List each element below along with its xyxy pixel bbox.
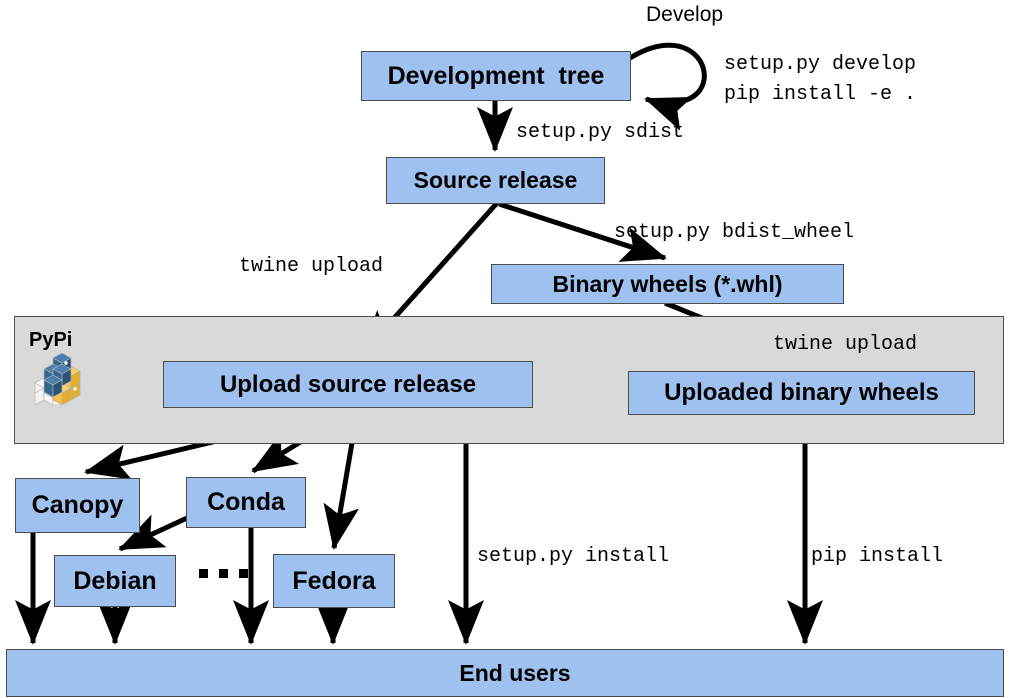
ellipsis-dot bbox=[199, 569, 208, 578]
node-upload-source-release[interactable]: Upload source release bbox=[163, 361, 533, 408]
label-develop-command-1: setup.py develop bbox=[724, 51, 916, 79]
node-fedora[interactable]: Fedora bbox=[273, 554, 395, 608]
label-develop: Develop bbox=[646, 3, 723, 27]
label-twine-upload-wheels: twine upload bbox=[773, 331, 917, 359]
label-setup-py-bdist-wheel: setup.py bdist_wheel bbox=[614, 219, 854, 247]
ellipsis-more-distros bbox=[199, 569, 248, 578]
pypi-python-cubes-logo bbox=[33, 353, 87, 405]
ellipsis-dot bbox=[239, 569, 248, 578]
edge-develop-selfloop bbox=[630, 45, 704, 103]
label-setup-py-install: setup.py install bbox=[477, 543, 669, 571]
pypi-panel-label: PyPi bbox=[29, 329, 72, 352]
node-conda[interactable]: Conda bbox=[186, 477, 306, 528]
node-debian[interactable]: Debian bbox=[54, 555, 176, 607]
node-binary-wheels[interactable]: Binary wheels (*.whl) bbox=[491, 264, 844, 304]
node-end-users-label: End users bbox=[459, 660, 570, 687]
ellipsis-dot bbox=[219, 569, 228, 578]
label-pip-install: pip install bbox=[811, 543, 943, 571]
diagram-canvas: PyPi bbox=[0, 0, 1009, 698]
node-end-users[interactable]: End users bbox=[6, 649, 1004, 697]
node-development-tree[interactable]: Development tree bbox=[361, 51, 631, 101]
node-canopy[interactable]: Canopy bbox=[15, 478, 140, 533]
label-develop-command-2: pip install -e . bbox=[724, 81, 916, 109]
label-twine-upload-source: twine upload bbox=[239, 253, 383, 281]
node-source-release[interactable]: Source release bbox=[386, 157, 605, 204]
node-uploaded-binary-wheels[interactable]: Uploaded binary wheels bbox=[628, 371, 975, 415]
label-setup-py-sdist: setup.py sdist bbox=[516, 119, 684, 147]
